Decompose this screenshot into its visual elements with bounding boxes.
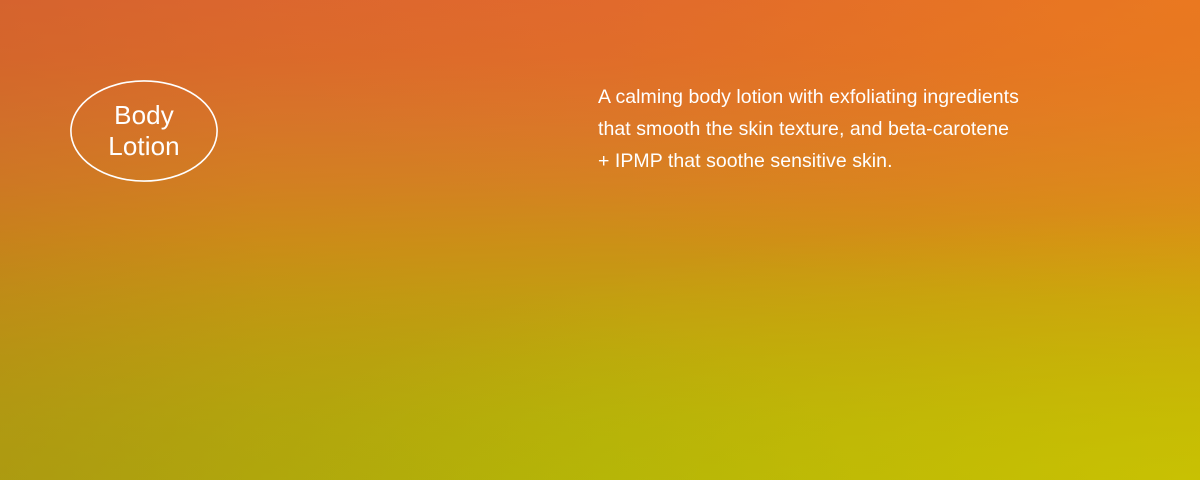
product-category-badge-label: Body Lotion (108, 100, 179, 162)
product-banner: Body Lotion A calming body lotion with e… (0, 0, 1200, 480)
product-category-badge: Body Lotion (70, 80, 218, 182)
banner-content: Body Lotion A calming body lotion with e… (0, 0, 1200, 480)
product-description: A calming body lotion with exfoliating i… (598, 81, 1098, 177)
